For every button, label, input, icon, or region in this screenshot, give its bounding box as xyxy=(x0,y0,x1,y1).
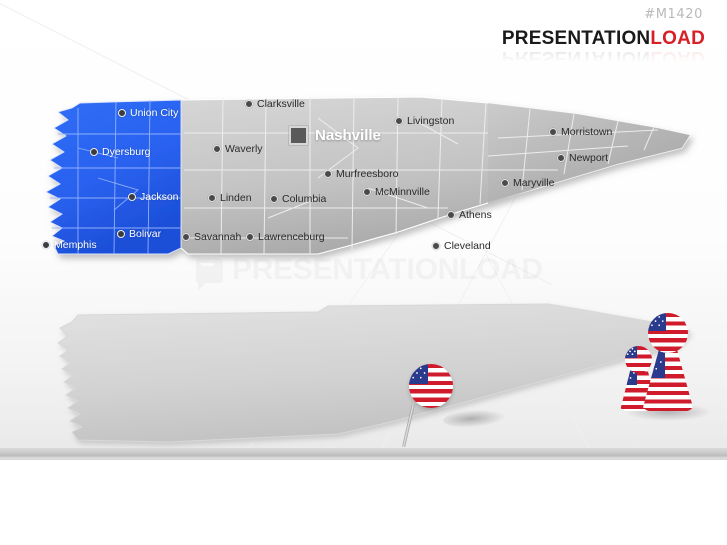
product-sku: #M1420 xyxy=(644,7,703,22)
pushpin-head xyxy=(409,364,453,408)
tennessee-county-map-svg[interactable] xyxy=(18,78,708,283)
footer: Tennessee – Karten Set für PowerPoint M1… xyxy=(0,460,727,545)
us-flag-canton xyxy=(625,346,637,358)
map-body-group xyxy=(46,97,690,254)
slide-canvas: #M1420 PRESENTATIONLOAD PRESENTATIONLOAD… xyxy=(0,0,727,545)
tennessee-silhouette-svg[interactable] xyxy=(18,290,708,450)
state-region-highlight-west xyxy=(46,100,181,254)
us-flag-canton xyxy=(409,364,428,384)
brand-logo-reflection: PRESENTATIONLOAD xyxy=(502,46,705,68)
tennessee-blank-silhouette[interactable] xyxy=(18,290,708,450)
us-flag-icon xyxy=(409,364,453,408)
us-flag-game-pieces xyxy=(616,305,712,423)
silhouette-path xyxy=(58,304,690,442)
brand-reflection-first: PRESENTATION xyxy=(502,47,650,68)
brand-reflection-second: LOAD xyxy=(650,47,705,68)
us-flag-canton xyxy=(648,313,666,331)
game-piece-large-head xyxy=(648,313,688,353)
us-flag-icon xyxy=(648,313,688,353)
tennessee-county-map[interactable]: Nashville Union City Dyersburg Jackson B… xyxy=(18,78,708,283)
us-flag-pushpin xyxy=(393,360,493,450)
pushpin-needle xyxy=(402,404,414,447)
